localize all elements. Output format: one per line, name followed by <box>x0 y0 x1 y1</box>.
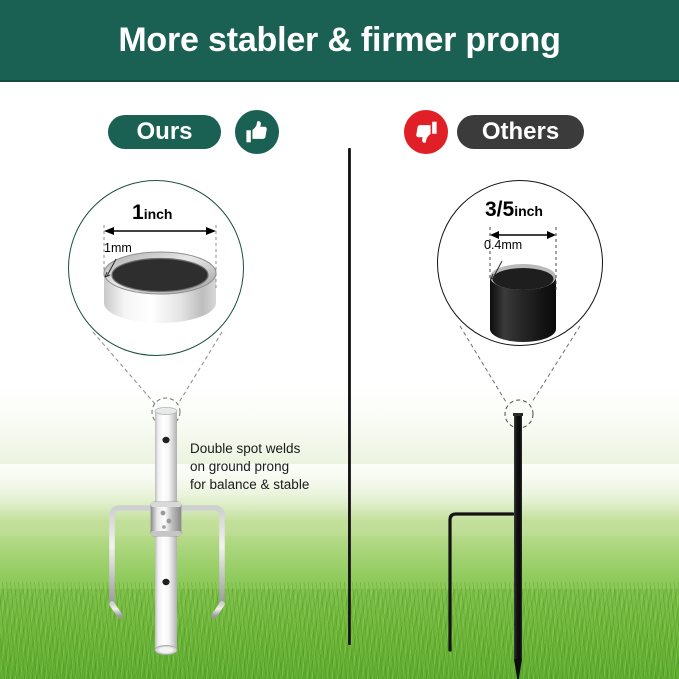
badge-others: Others <box>457 115 584 149</box>
page-title: More stabler & firmer prong <box>118 23 560 57</box>
ours-diameter-unit: inch <box>144 206 173 222</box>
annotation-line-1: Double spot welds <box>190 440 309 458</box>
header-banner: More stabler & firmer prong <box>0 0 679 82</box>
infographic-page: More stabler & firmer prong Ours <box>0 0 679 679</box>
comparison-scene: Ours Others <box>0 84 679 679</box>
annotation-line-3: for balance & stable <box>190 476 309 494</box>
grass-near-field <box>0 589 679 679</box>
others-diameter-value: 3/5 <box>485 198 514 221</box>
others-wall-thickness-label: 0.4mm <box>484 239 522 252</box>
grass-mid-field <box>0 536 679 596</box>
spot-weld-annotation: Double spot welds on ground prong for ba… <box>190 440 309 493</box>
ours-diameter-value: 1 <box>132 201 144 224</box>
ours-diameter-label: 1inch <box>132 202 172 223</box>
others-diameter-label: 3/5inch <box>485 199 543 220</box>
annotation-line-2: on ground prong <box>190 458 309 476</box>
badge-ours: Ours <box>108 115 221 149</box>
others-diameter-unit: inch <box>514 203 543 219</box>
center-divider-rod <box>348 148 351 645</box>
thumbs-down-icon <box>404 110 448 154</box>
ours-wall-thickness-label: 1mm <box>104 242 132 255</box>
thumbs-up-icon <box>235 110 279 154</box>
